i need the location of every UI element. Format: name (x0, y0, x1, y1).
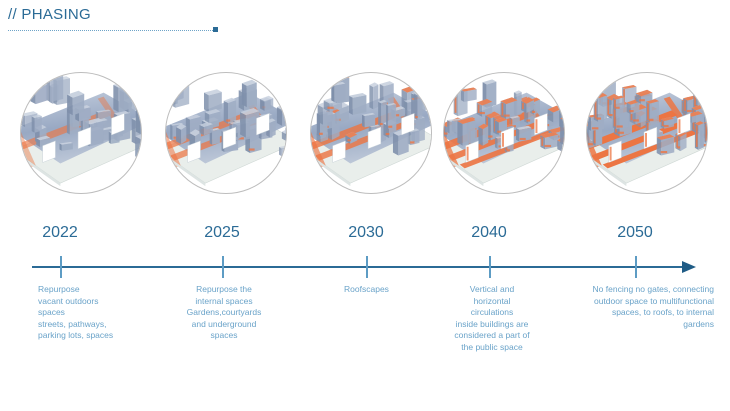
phase-illustration-2022 (20, 72, 142, 194)
header-divider-endpoint (213, 27, 218, 32)
phase-caption-2030: Roofscapes (310, 284, 423, 296)
year-label-2040[interactable]: 2040 (471, 224, 507, 242)
axonometric-city-diagram (21, 73, 141, 193)
phase-illustration-row (0, 72, 730, 197)
phase-illustration-2025 (165, 72, 287, 194)
phase-illustration-2050 (586, 72, 708, 194)
timeline-tick-2025 (222, 256, 224, 278)
timeline-axis (32, 266, 684, 268)
axonometric-city-diagram (311, 73, 431, 193)
header-divider (8, 30, 215, 32)
timeline: 20222025203020402050 (0, 218, 730, 278)
phase-illustration-2030 (310, 72, 432, 194)
phase-caption-2022: Repurpose vacant outdoors spaces streets… (38, 284, 158, 342)
timeline-tick-2040 (489, 256, 491, 278)
year-label-2022[interactable]: 2022 (42, 224, 78, 242)
year-label-2050[interactable]: 2050 (617, 224, 653, 242)
phase-caption-2025: Repurpose the internal spaces Gardens,co… (165, 284, 283, 342)
year-label-2025[interactable]: 2025 (204, 224, 240, 242)
phase-illustration-2040 (443, 72, 565, 194)
timeline-arrow-icon (682, 261, 696, 273)
timeline-tick-2030 (366, 256, 368, 278)
phase-caption-2050: No fencing no gates, connecting outdoor … (547, 284, 714, 330)
timeline-tick-2022 (60, 256, 62, 278)
year-label-2030[interactable]: 2030 (348, 224, 384, 242)
page-title: // PHASING (8, 6, 91, 23)
axonometric-city-diagram (444, 73, 564, 193)
phase-caption-2040: Vertical and horizontal circulations ins… (435, 284, 549, 353)
axonometric-city-diagram (587, 73, 707, 193)
axonometric-city-diagram (166, 73, 286, 193)
timeline-tick-2050 (635, 256, 637, 278)
